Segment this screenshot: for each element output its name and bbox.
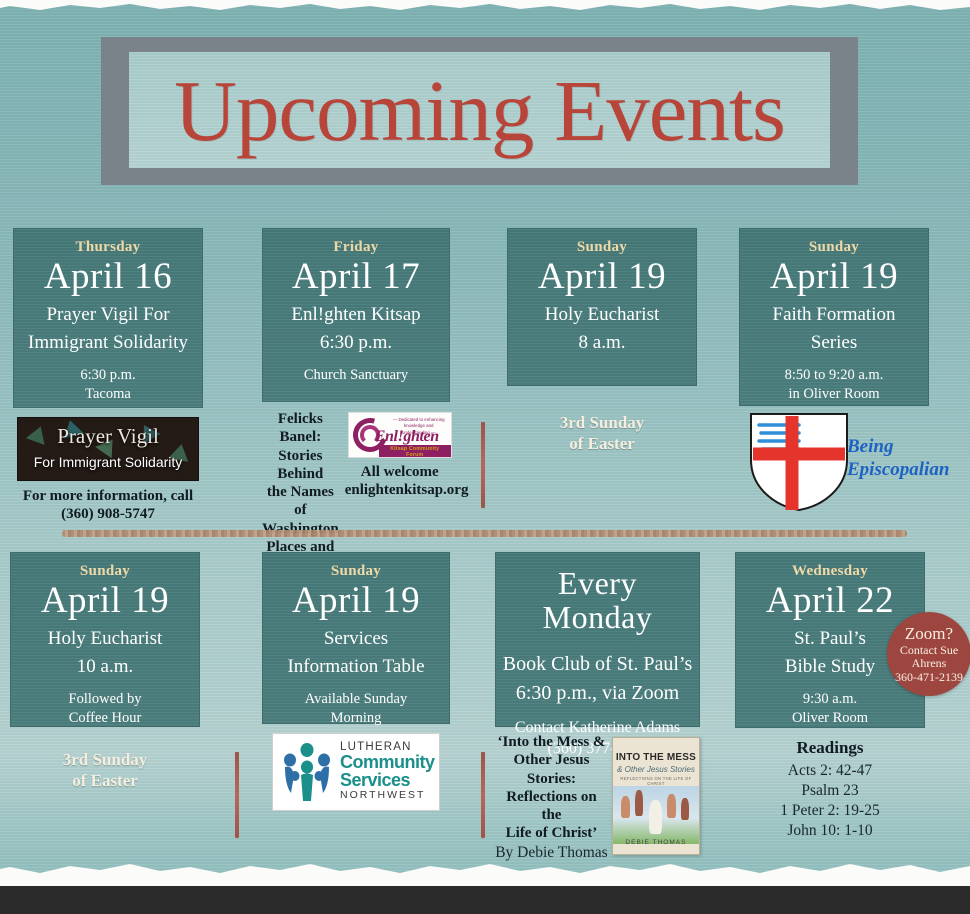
event-title-line2: 6:30 p.m., via Zoom xyxy=(502,681,693,706)
zoom-contact-badge[interactable]: Zoom? Contact Sue Ahrens 360-471-2139 xyxy=(887,612,970,696)
event-title-line1: Holy Eucharist xyxy=(17,627,193,651)
event-extra: Being Episcopalian xyxy=(739,408,929,514)
event-extra: 3rd Sunday of Easter xyxy=(10,749,200,792)
book-cover-title: INTO THE MESS xyxy=(613,752,699,763)
season-line2: of Easter xyxy=(10,770,200,791)
episcopal-shield-icon xyxy=(739,410,859,514)
event-title-line2: Series xyxy=(746,331,922,355)
event-extra: Prayer Vigil For Immigrant Solidarity Fo… xyxy=(13,417,203,524)
date-card: Thursday April 16 Prayer Vigil For Immig… xyxy=(13,228,203,408)
date-card: Every Monday Book Club of St. Paul’s 6:3… xyxy=(495,552,700,727)
event-date: April 17 xyxy=(269,258,443,297)
event-title-line1: Enl!ghten Kitsap xyxy=(269,303,443,327)
event-card-bible-study[interactable]: Wednesday April 22 St. Paul’s Bible Stud… xyxy=(735,552,925,841)
event-title-line2: Information Table xyxy=(269,655,443,679)
book-cover-author: DEBIE THOMAS xyxy=(613,839,699,846)
event-date: Every Monday xyxy=(502,567,693,634)
date-card: Sunday April 19 Services Information Tab… xyxy=(262,552,450,724)
date-card: Sunday April 19 Holy Eucharist 10 a.m. F… xyxy=(10,552,200,727)
event-note-line2: Morning xyxy=(269,709,443,728)
reading-item: John 10: 1-10 xyxy=(735,821,925,841)
reading-item: Psalm 23 xyxy=(735,781,925,801)
enlighten-kitsap-logo: — Dedicated to enhancing knowledge and u… xyxy=(348,412,452,458)
event-extra: Felicks Banel: Stories Behind the Names … xyxy=(262,410,450,575)
prayer-vigil-banner-image: Prayer Vigil For Immigrant Solidarity xyxy=(17,417,199,481)
date-card: Sunday April 19 Faith Formation Series 8… xyxy=(739,228,929,406)
event-title-line2: Immigrant Solidarity xyxy=(20,331,196,355)
book-cover-image: INTO THE MESS & Other Jesus Stories REFL… xyxy=(612,737,700,855)
reading-item: Acts 2: 42-47 xyxy=(735,761,925,781)
event-date: April 22 xyxy=(742,582,918,621)
event-title-line1: Services xyxy=(269,627,443,651)
page-title-text: Upcoming Events xyxy=(174,67,785,154)
badge-phone: 360-471-2139 xyxy=(895,671,963,684)
event-day-of-week: Sunday xyxy=(269,563,443,580)
event-title-line2: 10 a.m. xyxy=(17,655,193,679)
book-cover-subtitle: & Other Jesus Stories xyxy=(613,765,699,774)
event-location: Church Sanctuary xyxy=(269,366,443,385)
column-divider-2 xyxy=(235,752,239,838)
book-line1: ‘Into the Mess & xyxy=(495,733,608,751)
event-card-enlighten-kitsap[interactable]: Friday April 17 Enl!ghten Kitsap 6:30 p.… xyxy=(262,228,450,575)
event-date: April 19 xyxy=(17,582,193,621)
website-link[interactable]: enlightenkitsap.org xyxy=(345,481,455,499)
event-note-line1: Available Sunday xyxy=(269,690,443,709)
event-card-prayer-vigil[interactable]: Thursday April 16 Prayer Vigil For Immig… xyxy=(13,228,203,524)
lcs-line2: Community xyxy=(340,754,435,772)
event-day-of-week: Thursday xyxy=(20,239,196,256)
event-title-line2: 8 a.m. xyxy=(514,331,690,355)
badge-contact-line1: Contact Sue xyxy=(900,644,958,657)
event-day-of-week: Friday xyxy=(269,239,443,256)
lutheran-community-services-logo: LUTHERAN Community Services NORTHWEST xyxy=(272,733,440,811)
poster-canvas: Upcoming Events Thursday April 16 Prayer… xyxy=(0,0,970,886)
event-card-faith-formation[interactable]: Sunday April 19 Faith Formation Series 8… xyxy=(739,228,929,514)
date-card: Friday April 17 Enl!ghten Kitsap 6:30 p.… xyxy=(262,228,450,402)
talk-line2: Stories Behind xyxy=(262,447,339,484)
event-card-book-club[interactable]: Every Monday Book Club of St. Paul’s 6:3… xyxy=(495,552,700,863)
book-line4: Reflections on the xyxy=(495,788,608,825)
lcs-line4: NORTHWEST xyxy=(340,789,435,803)
season-line2: of Easter xyxy=(507,433,697,454)
horizontal-divider xyxy=(62,530,907,537)
talk-line3: the Names of xyxy=(262,483,339,520)
book-line5: Life of Christ’ xyxy=(495,824,608,842)
column-divider-3 xyxy=(481,752,485,838)
event-location: in Oliver Room xyxy=(746,385,922,404)
series-label-line2: Episcopalian xyxy=(847,459,933,482)
banner-subtitle: For Immigrant Solidarity xyxy=(18,454,198,470)
torn-paper-top-edge xyxy=(0,0,970,14)
event-date: April 19 xyxy=(746,258,922,297)
event-title-line1: Book Club of St. Paul’s xyxy=(502,652,693,677)
contact-phone: (360) 908-5747 xyxy=(13,505,203,523)
badge-title: Zoom? xyxy=(905,624,953,643)
lcs-line3: Services xyxy=(340,772,435,790)
reading-item: 1 Peter 2: 19-25 xyxy=(735,801,925,821)
event-extra: ‘Into the Mess & Other Jesus Stories: Re… xyxy=(495,733,700,863)
event-extra: 3rd Sunday of Easter xyxy=(507,412,697,455)
banner-title: Prayer Vigil xyxy=(18,424,198,449)
event-note-line1: Followed by xyxy=(17,690,193,709)
events-row-1: Thursday April 16 Prayer Vigil For Immig… xyxy=(0,228,970,518)
series-label-line1: Being xyxy=(847,436,933,459)
all-welcome-text: All welcome xyxy=(345,463,455,481)
page-title: Upcoming Events xyxy=(129,52,830,168)
event-date: April 19 xyxy=(269,582,443,621)
event-extra: LUTHERAN Community Services NORTHWEST xyxy=(262,733,450,811)
readings-heading: Readings xyxy=(735,738,925,759)
date-card: Sunday April 19 Holy Eucharist 8 a.m. xyxy=(507,228,697,386)
event-day-of-week: Sunday xyxy=(514,239,690,256)
contact-line1: For more information, call xyxy=(13,487,203,505)
event-title-line1: Faith Formation xyxy=(746,303,922,327)
event-time: 6:30 p.m. xyxy=(20,366,196,385)
event-date: April 19 xyxy=(514,258,690,297)
event-location: Tacoma xyxy=(20,385,196,404)
event-time: 9:30 a.m. xyxy=(742,690,918,709)
book-line3: Stories: xyxy=(495,770,608,788)
event-day-of-week: Wednesday xyxy=(742,563,918,580)
event-location: Oliver Room xyxy=(742,709,918,728)
event-title-line1: Prayer Vigil For xyxy=(20,303,196,327)
logo-wordmark: Enl!ghten xyxy=(375,428,439,446)
speaker-name: Felicks Banel: xyxy=(262,410,339,447)
event-title-line1: Holy Eucharist xyxy=(514,303,690,327)
event-card-holy-eucharist-10am[interactable]: Sunday April 19 Holy Eucharist 10 a.m. F… xyxy=(10,552,200,792)
bottom-background-band xyxy=(0,886,970,914)
book-cover-tagline: REFLECTIONS ON THE LIFE OF CHRIST xyxy=(613,776,699,786)
event-day-of-week: Sunday xyxy=(17,563,193,580)
event-card-services-info-table[interactable]: Sunday April 19 Services Information Tab… xyxy=(262,552,450,811)
column-divider-1 xyxy=(481,422,485,508)
logo-tagline: Kitsap Community Forum xyxy=(379,445,451,458)
lcs-figures-icon xyxy=(279,741,335,803)
torn-paper-bottom-edge xyxy=(0,856,970,886)
season-line1: 3rd Sunday xyxy=(10,749,200,770)
event-title-line2: 6:30 p.m. xyxy=(269,331,443,355)
event-extra: Readings Acts 2: 42-47 Psalm 23 1 Peter … xyxy=(735,738,925,841)
events-row-2: Sunday April 19 Holy Eucharist 10 a.m. F… xyxy=(0,552,970,857)
event-day-of-week: Sunday xyxy=(746,239,922,256)
event-card-holy-eucharist-8am[interactable]: Sunday April 19 Holy Eucharist 8 a.m. 3r… xyxy=(507,228,697,455)
event-time: 8:50 to 9:20 a.m. xyxy=(746,366,922,385)
event-date: April 16 xyxy=(20,258,196,297)
badge-contact-line2: Ahrens xyxy=(912,657,947,670)
book-line2: Other Jesus xyxy=(495,751,608,769)
season-line1: 3rd Sunday xyxy=(507,412,697,433)
book-cover-artwork xyxy=(613,786,699,844)
event-note-line2: Coffee Hour xyxy=(17,709,193,728)
